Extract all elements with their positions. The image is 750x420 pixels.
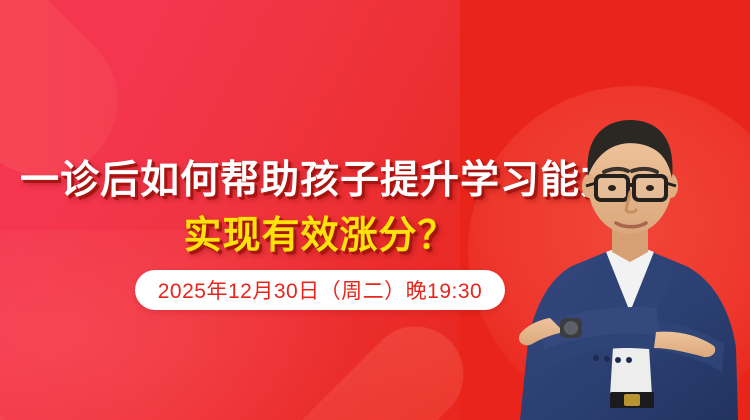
promo-banner: 一诊后如何帮助孩子提升学习能力 实现有效涨分？ 2025年12月30日（周二）晚… [0, 0, 750, 420]
background-left-glow [0, 230, 360, 420]
presenter-head [582, 120, 678, 234]
presenter-photo [510, 80, 750, 420]
date-badge: 2025年12月30日（周二）晚19:30 [135, 270, 505, 310]
date-badge-text: 2025年12月30日（周二）晚19:30 [158, 275, 482, 305]
